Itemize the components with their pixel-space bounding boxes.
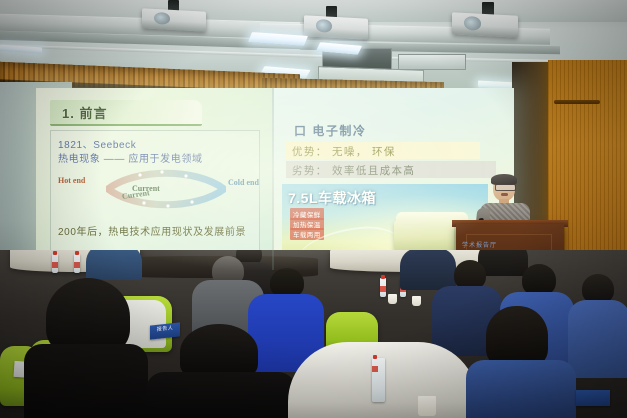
slide-right-heading: 口 电子制冷 bbox=[294, 122, 366, 139]
paper-cup bbox=[412, 296, 421, 306]
paper-cup bbox=[418, 396, 436, 416]
audience-member bbox=[86, 250, 142, 278]
thermoelectric-loop-diagram bbox=[106, 168, 226, 210]
person-head bbox=[486, 306, 548, 368]
disadvantage-text: 劣势： 效率低且成本高 bbox=[292, 163, 415, 178]
advantage-text: 优势： 无噪， 环保 bbox=[292, 144, 396, 159]
ceiling-mounted-projector bbox=[304, 15, 368, 39]
glasses-icon bbox=[495, 184, 516, 191]
ac-grille bbox=[398, 54, 466, 70]
diagram-cold-end-label: Cold end bbox=[228, 178, 259, 187]
lecture-hall-photo: 1. 前言 1821、Seebeck 热电现象 —— 应用于发电领域 200年后… bbox=[0, 0, 627, 418]
water-bottle bbox=[380, 278, 386, 297]
slide-left-line-2: 热电现象 —— 应用于发电领域 bbox=[58, 150, 203, 165]
ceiling-mounted-projector bbox=[142, 8, 206, 31]
slide-left-line-1: 1821、Seebeck bbox=[58, 136, 136, 151]
projection-screen: 1. 前言 1821、Seebeck 热电现象 —— 应用于发电领域 200年后… bbox=[36, 88, 514, 270]
ad-title: 7.5L车载冰箱 bbox=[288, 188, 376, 208]
person-body bbox=[86, 250, 142, 280]
presenter-mouth bbox=[501, 193, 508, 196]
diagram-hot-end-label: Hot end bbox=[58, 176, 85, 185]
person-body bbox=[146, 372, 296, 418]
screen-seam bbox=[272, 88, 274, 270]
water-bottle bbox=[52, 254, 58, 273]
person-body bbox=[24, 344, 148, 418]
paper-cup bbox=[388, 294, 397, 304]
podium-text: 学术报告厅 bbox=[462, 240, 497, 249]
audience-member-foreground bbox=[24, 278, 148, 418]
hot-end-text: Hot end bbox=[58, 176, 85, 185]
slide-left: 1. 前言 1821、Seebeck 热电现象 —— 应用于发电领域 200年后… bbox=[36, 88, 272, 270]
slide-left-title: 1. 前言 bbox=[62, 103, 107, 122]
audience-member-foreground bbox=[146, 324, 296, 418]
audience-area: 报告人 报告人 bbox=[0, 250, 627, 418]
name-card bbox=[576, 390, 610, 406]
audience-member bbox=[568, 274, 627, 374]
audience-member-foreground bbox=[466, 306, 576, 418]
slide-left-line-3: 200年后，热电技术应用现状及发展前景 bbox=[58, 223, 246, 238]
person-body bbox=[466, 360, 576, 418]
cold-end-text: Cold end bbox=[228, 178, 259, 187]
water-bottle bbox=[372, 358, 385, 402]
water-bottle bbox=[74, 254, 80, 273]
ceiling-mounted-projector bbox=[452, 12, 518, 37]
person-body bbox=[568, 300, 627, 378]
